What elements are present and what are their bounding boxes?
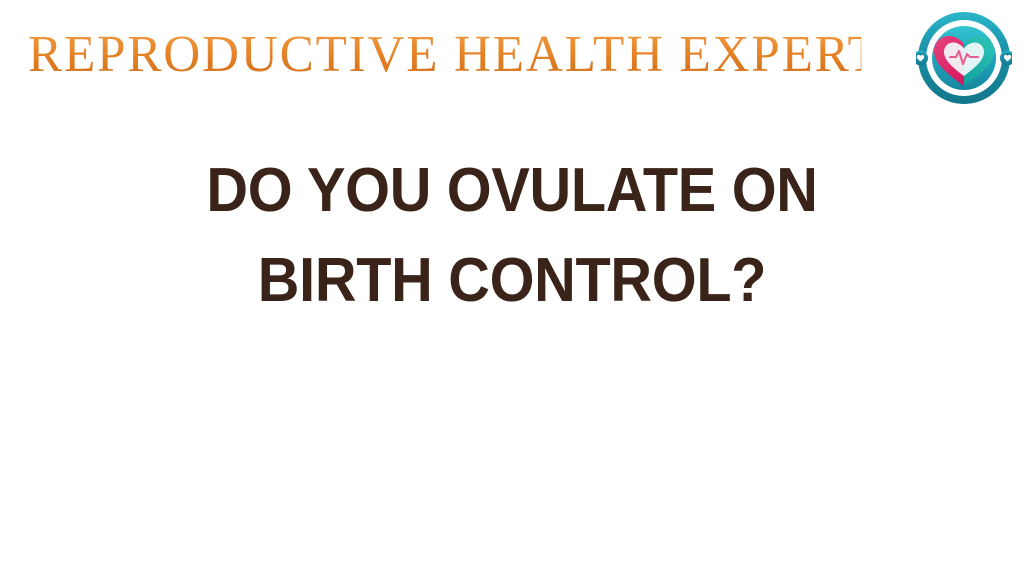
page-root: REPRODUCTIVE HEALTH EXPERTS xyxy=(0,0,1024,576)
brand-title: REPRODUCTIVE HEALTH EXPERTS xyxy=(28,24,861,86)
masthead: REPRODUCTIVE HEALTH EXPERTS xyxy=(0,0,1024,118)
content-area-empty xyxy=(0,330,1024,576)
page-title-line-2: BIRTH CONTROL? xyxy=(36,236,988,326)
heart-badge-logo-icon xyxy=(916,10,1012,106)
page-title-line-1: DO YOU OVULATE ON xyxy=(36,146,988,236)
page-title: DO YOU OVULATE ON BIRTH CONTROL? xyxy=(0,146,1024,326)
